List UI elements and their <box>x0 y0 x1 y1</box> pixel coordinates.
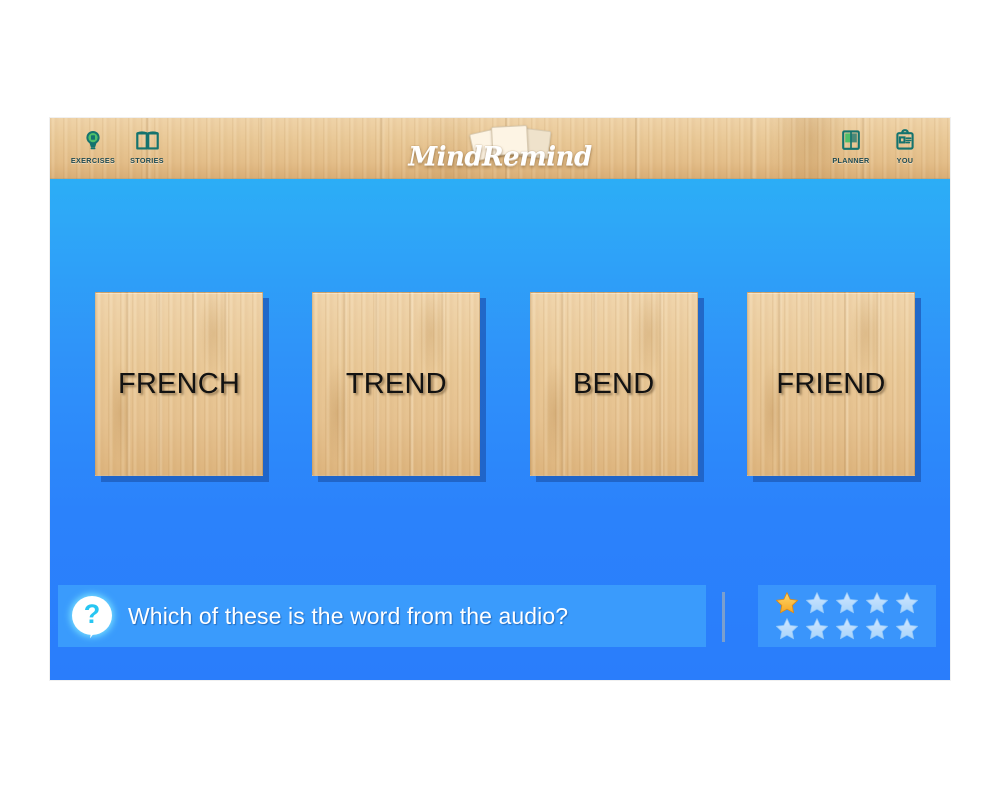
answer-choices-row: FRENCH TREND BEND FRIEND <box>95 292 915 484</box>
star-icon-empty <box>895 591 919 615</box>
planner-book-icon <box>838 127 864 153</box>
id-card-icon <box>892 127 918 153</box>
tile-word-label: FRIEND <box>776 368 885 401</box>
nav-label-you: YOU <box>897 156 914 165</box>
answer-tile[interactable]: TREND <box>312 292 480 476</box>
star-icon-filled <box>775 591 799 615</box>
nav-item-exercises[interactable]: EXERCISES <box>66 118 120 176</box>
tile-word-label: TREND <box>346 368 447 401</box>
star-icon-empty <box>835 617 859 641</box>
tile-face: TREND <box>312 292 480 476</box>
nav-label-planner: PLANNER <box>832 156 869 165</box>
star-icon-empty <box>805 591 829 615</box>
bottom-bar-divider <box>722 592 725 642</box>
tile-word-label: BEND <box>573 368 654 401</box>
tile-face: BEND <box>530 292 698 476</box>
nav-item-stories[interactable]: STORIES <box>120 118 174 176</box>
nav-label-exercises: EXERCISES <box>71 156 115 165</box>
star-row <box>775 591 919 615</box>
progress-stars-panel <box>758 585 936 647</box>
open-book-icon <box>134 127 160 153</box>
lightbulb-icon <box>80 127 106 153</box>
answer-tile[interactable]: FRENCH <box>95 292 263 476</box>
star-icon-empty <box>775 617 799 641</box>
star-icon-empty <box>865 591 889 615</box>
mindremind-app-window: EXERCISES STORIES <box>50 118 950 680</box>
screenshot-canvas: EXERCISES STORIES <box>0 0 1000 800</box>
tile-word-label: FRENCH <box>118 368 240 401</box>
primary-nav-right: PLANNER YOU <box>824 118 932 176</box>
nav-label-stories: STORIES <box>130 156 164 165</box>
question-mark-glyph: ? <box>72 596 112 635</box>
bottom-status-bar: ? Which of these is the word from the au… <box>50 580 950 680</box>
app-header-bar: EXERCISES STORIES <box>50 118 950 179</box>
answer-tile[interactable]: BEND <box>530 292 698 476</box>
nav-item-planner[interactable]: PLANNER <box>824 118 878 176</box>
star-icon-empty <box>895 617 919 641</box>
question-bubble-icon[interactable]: ? <box>72 596 112 636</box>
brand-name: MindRemind <box>395 142 605 172</box>
answer-tile[interactable]: FRIEND <box>747 292 915 476</box>
star-icon-empty <box>805 617 829 641</box>
tile-face: FRENCH <box>95 292 263 476</box>
app-logo[interactable]: MindRemind <box>395 124 605 174</box>
star-row <box>775 617 919 641</box>
primary-nav-left: EXERCISES STORIES <box>66 118 174 176</box>
star-icon-empty <box>865 617 889 641</box>
question-panel: ? Which of these is the word from the au… <box>58 585 706 647</box>
nav-item-you[interactable]: YOU <box>878 118 932 176</box>
tile-face: FRIEND <box>747 292 915 476</box>
question-prompt-text: Which of these is the word from the audi… <box>128 603 568 630</box>
star-icon-empty <box>835 591 859 615</box>
